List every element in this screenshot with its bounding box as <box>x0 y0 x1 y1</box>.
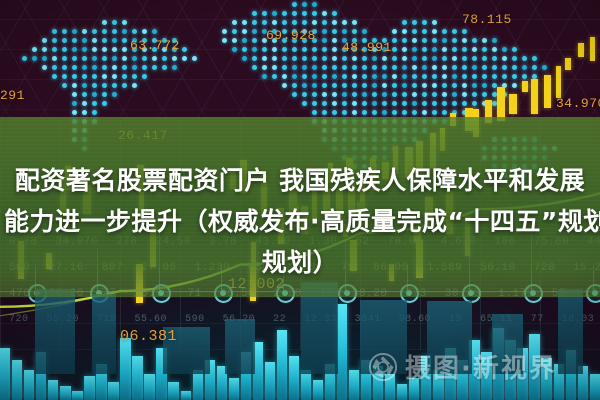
watermark-text: 摄图·新视界 <box>405 348 557 385</box>
watermark: 摄图·新视界 <box>368 348 557 385</box>
headline-line-3: 规划） <box>0 242 600 283</box>
headline-line-1: 配资著名股票配资门户 我国残疾人保障水平和发展 <box>0 160 600 201</box>
aperture-icon <box>368 352 398 382</box>
headline-text-block: 配资著名股票配资门户 我国残疾人保障水平和发展 能力进一步提升（权威发布·高质量… <box>0 160 600 283</box>
headline-line-2: 能力进一步提升（权威发布·高质量完成“十四五”规划 <box>0 201 600 242</box>
stock-photo-banner: 0.7834.97027824.503.7843.201.306278.004.… <box>0 0 600 400</box>
